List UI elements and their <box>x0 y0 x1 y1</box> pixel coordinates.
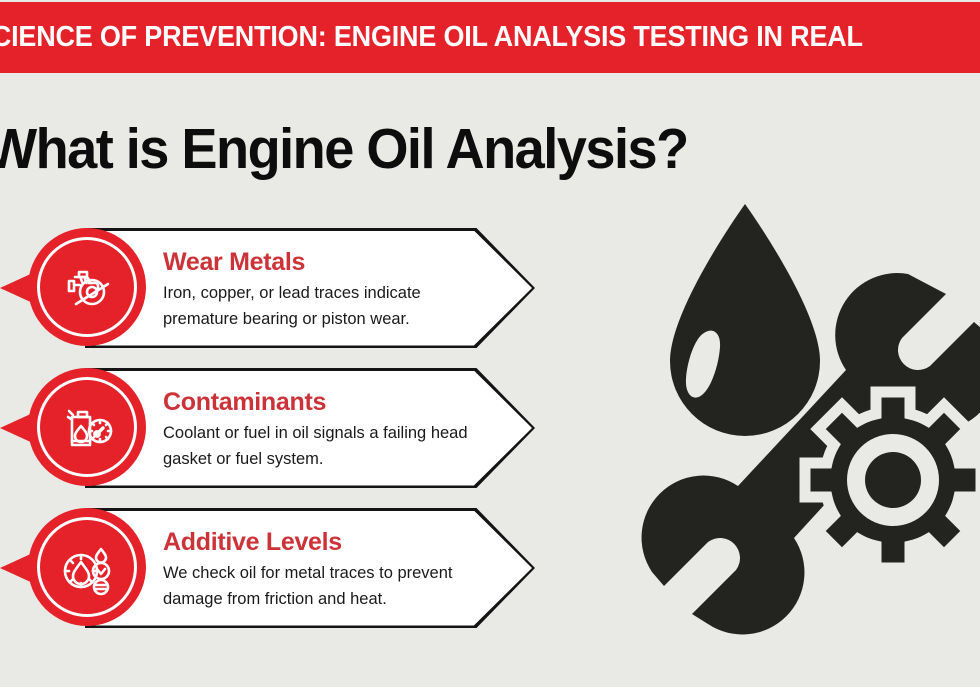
engine-icon <box>55 255 119 319</box>
card-description: Coolant or fuel in oil signals a failing… <box>163 421 493 472</box>
oil-gauge-drop-icon <box>55 535 119 599</box>
card-description: Iron, copper, or lead traces indicate pr… <box>163 281 493 332</box>
feature-card[interactable]: Contaminants Coolant or fuel in oil sign… <box>0 368 560 488</box>
card-text-block: Additive Levels We check oil for metal t… <box>163 528 493 612</box>
fuel-can-gauge-icon <box>55 395 119 459</box>
card-text-block: Contaminants Coolant or fuel in oil sign… <box>163 388 493 472</box>
card-icon-badge <box>28 228 146 346</box>
oil-drop-wrench-gear-illustration <box>612 186 980 666</box>
feature-card-list: Wear Metals Iron, copper, or lead traces… <box>0 228 560 648</box>
card-icon-badge <box>28 508 146 626</box>
card-heading: Contaminants <box>163 388 493 417</box>
feature-card[interactable]: Wear Metals Iron, copper, or lead traces… <box>0 228 560 348</box>
banner-title: SCIENCE OF PREVENTION: ENGINE OIL ANALYS… <box>0 21 863 54</box>
oil-droplet-shape <box>670 204 820 436</box>
card-description: We check oil for metal traces to prevent… <box>163 561 493 612</box>
card-heading: Wear Metals <box>163 248 493 277</box>
gear-shape <box>805 392 980 568</box>
top-banner: SCIENCE OF PREVENTION: ENGINE OIL ANALYS… <box>0 2 980 73</box>
feature-card[interactable]: Additive Levels We check oil for metal t… <box>0 508 560 628</box>
card-icon-badge <box>28 368 146 486</box>
card-heading: Additive Levels <box>163 528 493 557</box>
page-title: What is Engine Oil Analysis? <box>0 116 688 182</box>
card-text-block: Wear Metals Iron, copper, or lead traces… <box>163 248 493 332</box>
